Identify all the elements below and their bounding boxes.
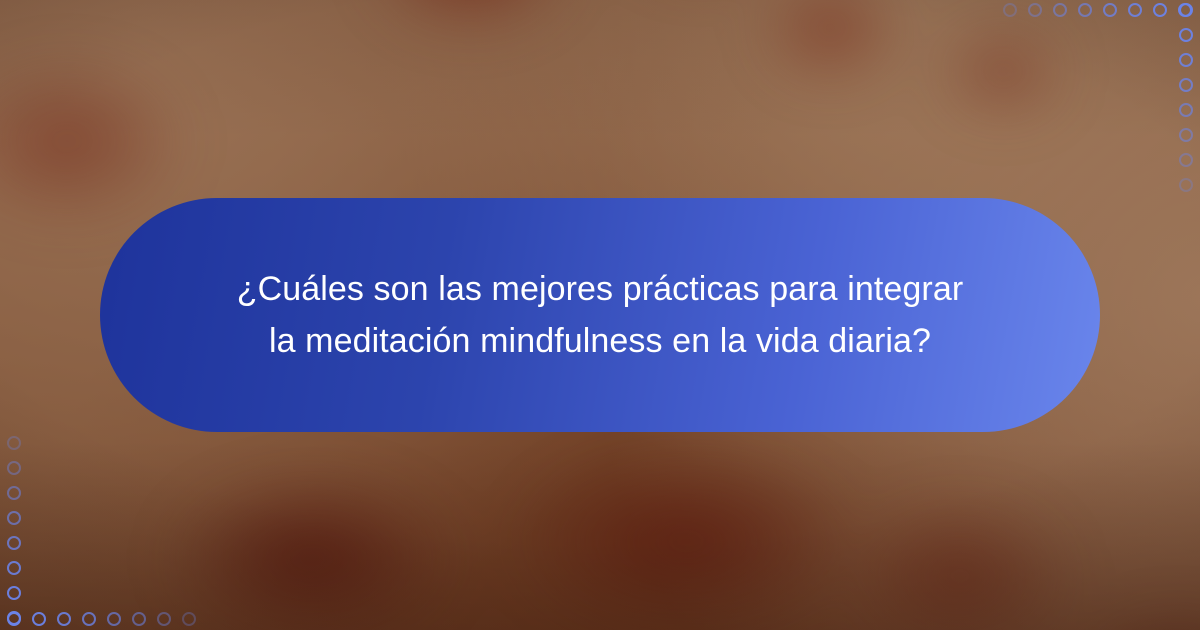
decorative-dot [7,511,21,525]
decorative-dot-rail-right [1179,3,1193,192]
decorative-dot [1028,3,1042,17]
decorative-dot [57,612,71,626]
decorative-dot [82,612,96,626]
decorative-dot-rail-top-right [1003,3,1192,17]
decorative-dot [7,436,21,450]
decorative-dot [182,612,196,626]
decorative-dot [1003,3,1017,17]
decorative-dot [1053,3,1067,17]
decorative-dot [7,586,21,600]
decorative-dot-rail-left [7,436,21,625]
decorative-dot [7,611,21,625]
decorative-dot [1179,3,1193,17]
decorative-dot [157,612,171,626]
question-text: ¿Cuáles son las mejores prácticas para i… [237,263,964,367]
decorative-dot [7,536,21,550]
decorative-dot [107,612,121,626]
decorative-dot [1179,178,1193,192]
question-card: ¿Cuáles son las mejores prácticas para i… [100,198,1100,432]
decorative-dot [1103,3,1117,17]
decorative-dot [1078,3,1092,17]
decorative-dot [32,612,46,626]
decorative-dot-rail-bottom-left [7,612,196,626]
decorative-dot [1179,153,1193,167]
decorative-dot [7,461,21,475]
question-card-image: ¿Cuáles son las mejores prácticas para i… [0,0,1200,630]
decorative-dot [1179,53,1193,67]
decorative-dot [1179,103,1193,117]
decorative-dot [1179,128,1193,142]
decorative-dot [1179,28,1193,42]
decorative-dot [1153,3,1167,17]
decorative-dot [7,486,21,500]
decorative-dot [1128,3,1142,17]
decorative-dot [132,612,146,626]
decorative-dot [7,561,21,575]
decorative-dot [1179,78,1193,92]
